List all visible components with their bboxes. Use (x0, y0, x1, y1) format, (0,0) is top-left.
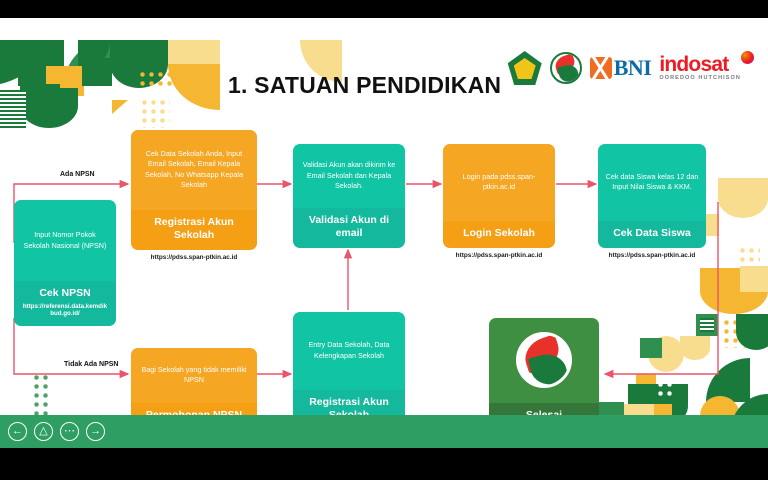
presentation-slide: 1. SATUAN PENDIDIKAN BNI indosat OOREDOO… (0, 18, 768, 448)
node-cek-npsn-label: Cek NPSN (39, 287, 90, 299)
node-permohonan-npsn-body: Bagi Sekolah yang tidak memiliki NPSN (131, 348, 257, 403)
presentation-control-bar: ← △ ⋯ → (0, 415, 768, 448)
node-cek-npsn-url[interactable]: https://referensi.data.kemdikbud.go.id/ (18, 303, 112, 319)
node-login-sekolah-label: Login Sekolah (443, 221, 555, 248)
node-cek-npsn[interactable]: Input Nomor Pokok Sekolah Nasional (NPSN… (14, 200, 116, 326)
node-registrasi-akun-sekolah-2[interactable]: Entry Data Sekolah, Data Kelengkapan Sek… (293, 312, 405, 430)
node-login-sekolah-url[interactable]: https://pdss.span-ptkin.ac.id (443, 252, 555, 259)
node-registrasi-akun-2-body: Entry Data Sekolah, Data Kelengkapan Sek… (293, 312, 405, 390)
span-ptkin-seal-icon (516, 332, 572, 388)
node-login-sekolah-body: Login pada pdss.span-ptkin.ac.id (443, 144, 555, 221)
node-cek-data-siswa-label: Cek Data Siswa (598, 221, 706, 248)
node-validasi-akun-label: Validasi Akun di email (293, 208, 405, 248)
node-validasi-akun[interactable]: Validasi Akun akan dikirim ke Email Seko… (293, 144, 405, 248)
annotate-pen-button[interactable]: △ (34, 422, 53, 441)
node-cek-npsn-foot: Cek NPSN https://referensi.data.kemdikbu… (14, 281, 116, 326)
edge-label-ada-npsn: Ada NPSN (60, 171, 95, 178)
node-selesai[interactable]: Selesai (489, 318, 599, 430)
node-login-sekolah[interactable]: Login pada pdss.span-ptkin.ac.id Login S… (443, 144, 555, 248)
next-slide-button[interactable]: → (86, 422, 105, 441)
node-registrasi-akun-url[interactable]: https://pdss.span-ptkin.ac.id (131, 254, 257, 261)
previous-slide-button[interactable]: ← (8, 422, 27, 441)
node-registrasi-akun-sekolah[interactable]: Cek Data Sekolah Anda, Input Email Sekol… (131, 130, 257, 250)
node-cek-npsn-body: Input Nomor Pokok Sekolah Nasional (NPSN… (14, 200, 116, 281)
node-selesai-body (489, 318, 599, 403)
node-cek-data-siswa[interactable]: Cek data Siswa kelas 12 dan Input Nilai … (598, 144, 706, 248)
node-registrasi-akun-label: Registrasi Akun Sekolah (131, 210, 257, 250)
node-registrasi-akun-body: Cek Data Sekolah Anda, Input Email Sekol… (131, 130, 257, 210)
more-options-button[interactable]: ⋯ (60, 422, 79, 441)
edge-label-tidak-ada-npsn: Tidak Ada NPSN (64, 361, 118, 368)
seal-green-shape (528, 351, 569, 389)
node-validasi-akun-body: Validasi Akun akan dikirim ke Email Seko… (293, 144, 405, 208)
node-cek-data-siswa-body: Cek data Siswa kelas 12 dan Input Nilai … (598, 144, 706, 221)
node-cek-data-siswa-url[interactable]: https://pdss.span-ptkin.ac.id (596, 252, 708, 259)
